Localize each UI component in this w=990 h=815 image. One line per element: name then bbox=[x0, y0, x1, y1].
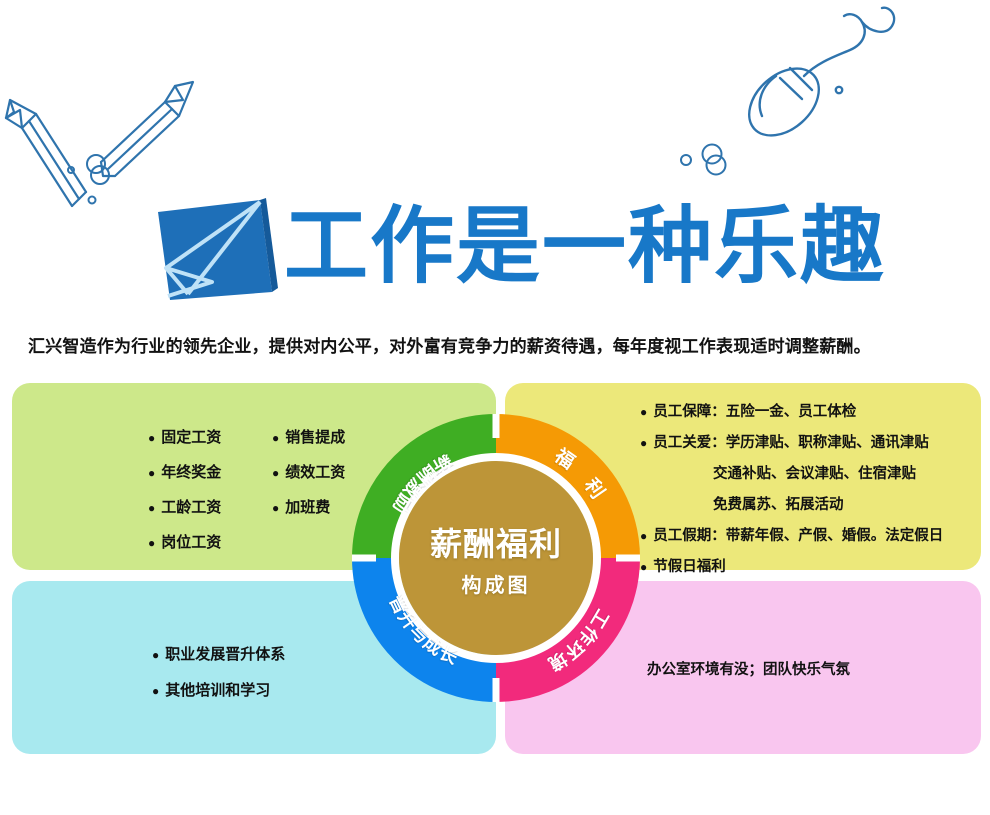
donut-center-disc bbox=[399, 461, 593, 655]
workplace-text: 办公室环境有没；团队快乐气氛 bbox=[647, 658, 850, 679]
bullet-dot-icon: ● bbox=[272, 502, 279, 514]
list-item: ●员工关爱：学历津贴、职称津贴、通讯津贴 bbox=[640, 431, 943, 452]
incentive-list-column-b: ●销售提成 ●绩效工资 ●加班费 bbox=[272, 426, 345, 531]
company-diamond-logo bbox=[152, 196, 284, 304]
bullet-dot-icon: ● bbox=[640, 437, 647, 449]
list-item: ●员工假期：带薪年假、产假、婚假。法定假日 bbox=[640, 524, 943, 545]
bullet-dot-icon: ● bbox=[148, 502, 155, 514]
bullet-dot-icon: ● bbox=[148, 432, 155, 444]
list-item: ●节假日福利 bbox=[640, 555, 943, 576]
list-item: ●绩效工资 bbox=[272, 461, 345, 482]
bullet-dot-icon: ● bbox=[640, 561, 647, 573]
list-item: ●加班费 bbox=[272, 496, 345, 517]
page-title: 工作是一种乐趣 bbox=[284, 192, 886, 300]
bullet-dot-icon: ● bbox=[272, 432, 279, 444]
bullet-dot-icon: ● bbox=[640, 530, 647, 542]
bullet-dot-icon: ● bbox=[152, 649, 159, 661]
bullet-dot-icon: ● bbox=[640, 406, 647, 418]
growth-list: ●职业发展晋升体系 ●其他培训和学习 bbox=[152, 643, 285, 715]
list-item: ●职业发展晋升体系 bbox=[152, 643, 285, 664]
intro-paragraph: 汇兴智造作为行业的领先企业，提供对内公平，对外富有竞争力的薪资待遇，每年度视工作… bbox=[28, 332, 968, 357]
list-item: ●工龄工资 bbox=[148, 496, 221, 517]
bullet-dot-icon: ● bbox=[148, 467, 155, 479]
bullet-dot-icon: ● bbox=[148, 537, 155, 549]
list-item: ●销售提成 bbox=[272, 426, 345, 447]
list-item-continuation: 免费属苏、拓展活动 bbox=[713, 493, 943, 514]
list-item: ●岗位工资 bbox=[148, 531, 221, 552]
incentive-list-column-a: ●固定工资 ●年终奖金 ●工龄工资 ●岗位工资 bbox=[148, 426, 221, 566]
list-item: ●年终奖金 bbox=[148, 461, 221, 482]
list-item: ●固定工资 bbox=[148, 426, 221, 447]
bullet-dot-icon: ● bbox=[152, 685, 159, 697]
welfare-list: ●员工保障：五险一金、员工体检 ●员工关爱：学历津贴、职称津贴、通讯津贴 交通补… bbox=[640, 400, 943, 586]
list-item-continuation: 交通补贴、会议津贴、住宿津贴 bbox=[713, 462, 943, 483]
bullet-dot-icon: ● bbox=[272, 467, 279, 479]
bubble-circles-right bbox=[676, 130, 756, 180]
salary-benefits-donut bbox=[352, 414, 640, 702]
list-item: ●其他培训和学习 bbox=[152, 679, 285, 700]
bubble-circles bbox=[62, 148, 132, 208]
infographic-canvas: 工作是一种乐趣 汇兴智造作为行业的领先企业，提供对内公平，对外富有竞争力的薪资待… bbox=[0, 0, 990, 815]
list-item: ●员工保障：五险一金、员工体检 bbox=[640, 400, 943, 421]
